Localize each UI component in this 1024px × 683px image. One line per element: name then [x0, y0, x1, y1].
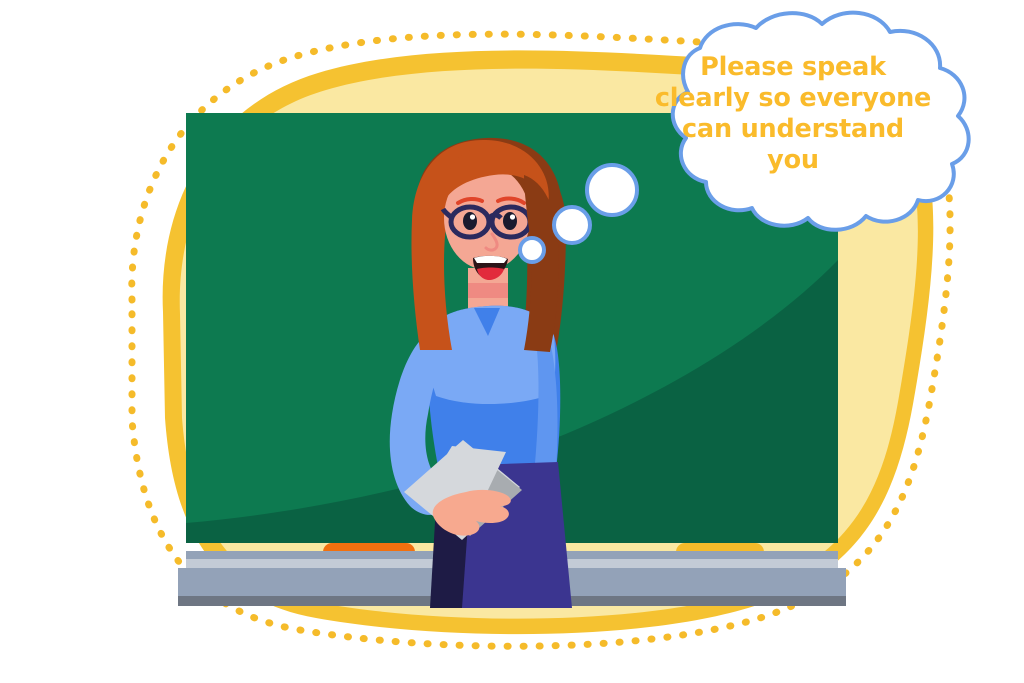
eye-right	[503, 212, 517, 230]
eye-left	[463, 212, 477, 230]
eye-right-highlight	[510, 214, 515, 219]
trail-bubble-small	[520, 238, 544, 262]
neck-shadow	[468, 283, 508, 298]
scene-graphic	[0, 0, 1024, 683]
trail-bubble-medium	[554, 207, 590, 243]
glasses-bridge	[489, 215, 501, 218]
thought-cloud-bubble[interactable]	[673, 13, 969, 230]
illustration-canvas: Please speak clearly so everyone can und…	[0, 0, 1024, 683]
eye-left-highlight	[470, 214, 475, 219]
trail-bubble-large	[587, 165, 637, 215]
